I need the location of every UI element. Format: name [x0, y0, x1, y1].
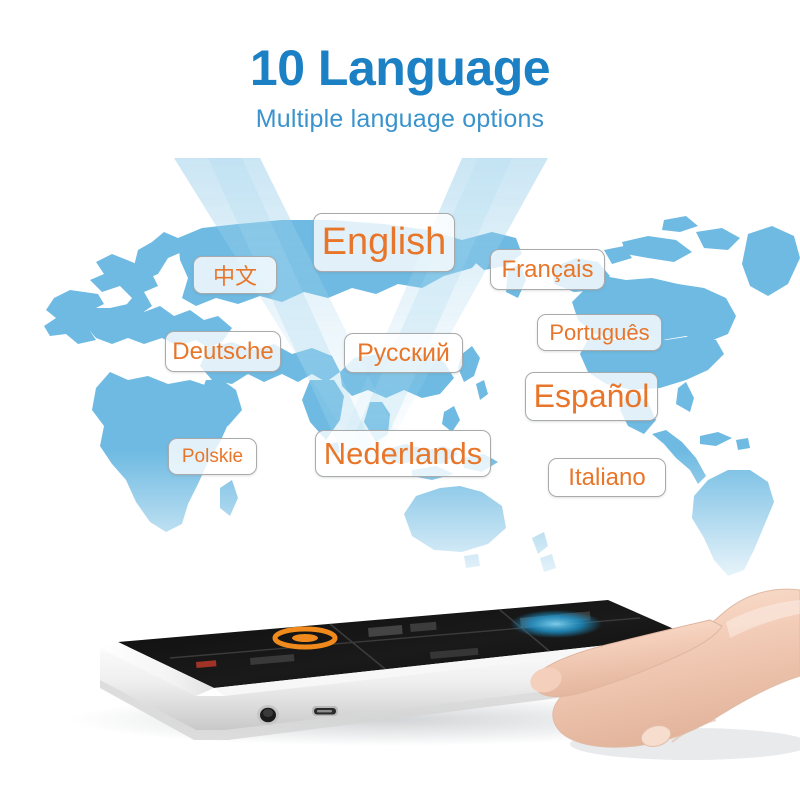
language-chip-label: Nederlands [324, 436, 483, 472]
language-chip-label: Français [501, 256, 593, 284]
language-chip-label: Português [549, 320, 649, 346]
language-chip-label: Polskie [182, 446, 243, 468]
language-chip-french[interactable]: Français [490, 249, 605, 290]
language-chip-italian[interactable]: Italiano [548, 458, 666, 497]
language-chip-polish[interactable]: Polskie [168, 438, 257, 475]
touch-ripple-icon [510, 610, 602, 638]
tablet-with-hand-illustration [0, 580, 800, 800]
language-promo-banner: 10 Language Multiple language options [0, 0, 800, 800]
language-chip-english[interactable]: English [313, 213, 455, 272]
micro-usb-port-tongue [317, 710, 332, 712]
language-chip-label: 中文 [213, 259, 257, 291]
language-chip-chinese[interactable]: 中文 [193, 256, 277, 294]
headphone-jack-inner [263, 709, 273, 717]
language-chip-label: Deutsche [172, 338, 273, 366]
device-photo-region [0, 580, 800, 800]
language-chip-label: English [322, 221, 447, 264]
language-chip-spanish[interactable]: Español [525, 372, 658, 421]
header: 10 Language Multiple language options [0, 0, 800, 134]
language-chip-russian[interactable]: Русский [344, 333, 463, 373]
world-map-region: 中文 English Français Deutsche Русский Por… [0, 150, 800, 600]
language-chip-portuguese[interactable]: Português [537, 314, 662, 351]
language-chip-label: Italiano [568, 464, 645, 492]
page-title: 10 Language [0, 0, 800, 95]
language-chip-dutch[interactable]: Nederlands [315, 430, 491, 477]
page-subtitle: Multiple language options [0, 95, 800, 134]
language-chip-german[interactable]: Deutsche [165, 331, 281, 372]
language-chip-label: Русский [357, 339, 450, 368]
language-chip-label: Español [534, 378, 650, 415]
